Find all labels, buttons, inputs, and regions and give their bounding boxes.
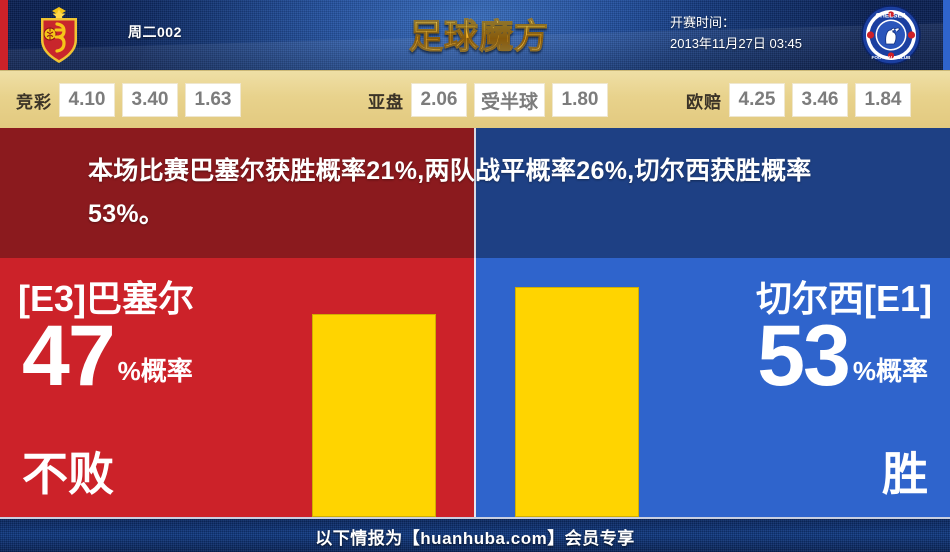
odds-value-jingcai-1[interactable]: 4.10 [59,83,115,117]
match-probability-infographic: 周二002 足球魔方 开赛时间： 2013年11月27日 03:45 CHELS… [0,0,950,552]
home-verdict: 不败 [22,438,114,504]
odds-group-jingcai: 竞彩 4.10 3.40 1.63 [16,71,241,129]
away-probability-row: 53 %概率 [757,316,928,396]
footer-bar: 以下情报为【huanhuba.com】会员专享 [0,517,950,552]
away-probability-bar [515,287,639,517]
svg-text:CHELSEA: CHELSEA [875,13,906,20]
odds-label-oupei: 欧赔 [686,88,722,113]
home-probability-value: 47 [22,316,114,396]
kickoff-value: 2013年11月27日 03:45 [670,33,802,54]
odds-value-oupei-3[interactable]: 1.84 [855,83,911,117]
odds-bar: 竞彩 4.10 3.40 1.63 亚盘 2.06 受半球 1.80 欧赔 4.… [0,70,950,130]
header-right-blue-edge [943,0,950,70]
home-probability-row: 47 %概率 [22,316,193,396]
match-number: 周二002 [128,22,182,42]
odds-label-yapan: 亚盘 [368,88,404,113]
probability-chart: [E3]巴塞尔 47 %概率 不败 切尔西[E1] 53 %概率 胜 [0,258,950,517]
panel-divider [474,258,476,517]
basel-crest-icon [28,4,90,66]
kickoff-label: 开赛时间： [670,12,802,33]
home-probability-bar [312,314,436,517]
away-probability-suffix: %概率 [849,352,928,396]
odds-value-jingcai-3[interactable]: 1.63 [185,83,241,117]
header-bar: 周二002 足球魔方 开赛时间： 2013年11月27日 03:45 CHELS… [0,0,950,70]
svg-text:FOOTBALL CLUB: FOOTBALL CLUB [872,55,912,60]
odds-value-oupei-2[interactable]: 3.46 [792,83,848,117]
away-verdict: 胜 [882,438,928,504]
summary-text: 本场比赛巴塞尔获胜概率21%,两队战平概率26%,切尔西获胜概率53%。 [88,150,878,236]
odds-value-jingcai-2[interactable]: 3.40 [122,83,178,117]
odds-value-oupei-1[interactable]: 4.25 [729,83,785,117]
odds-group-oupei: 欧赔 4.25 3.46 1.84 [686,71,911,129]
brand-logo: 足球魔方 [404,9,554,57]
odds-value-yapan-1[interactable]: 2.06 [411,83,467,117]
odds-label-jingcai: 竞彩 [16,88,52,113]
chelsea-crest-icon: CHELSEA FOOTBALL CLUB [860,4,922,66]
footer-text: 以下情报为【huanhuba.com】会员专享 [315,524,634,549]
odds-group-yapan: 亚盘 2.06 受半球 1.80 [368,71,608,129]
away-probability-value: 53 [757,316,849,396]
kickoff-time: 开赛时间： 2013年11月27日 03:45 [670,12,802,54]
odds-value-yapan-2[interactable]: 1.80 [552,83,608,117]
home-probability-suffix: %概率 [114,352,193,396]
summary-banner: 本场比赛巴塞尔获胜概率21%,两队战平概率26%,切尔西获胜概率53%。 [0,128,950,258]
header-left-red-edge [0,0,8,70]
odds-value-yapan-handicap[interactable]: 受半球 [474,83,545,117]
